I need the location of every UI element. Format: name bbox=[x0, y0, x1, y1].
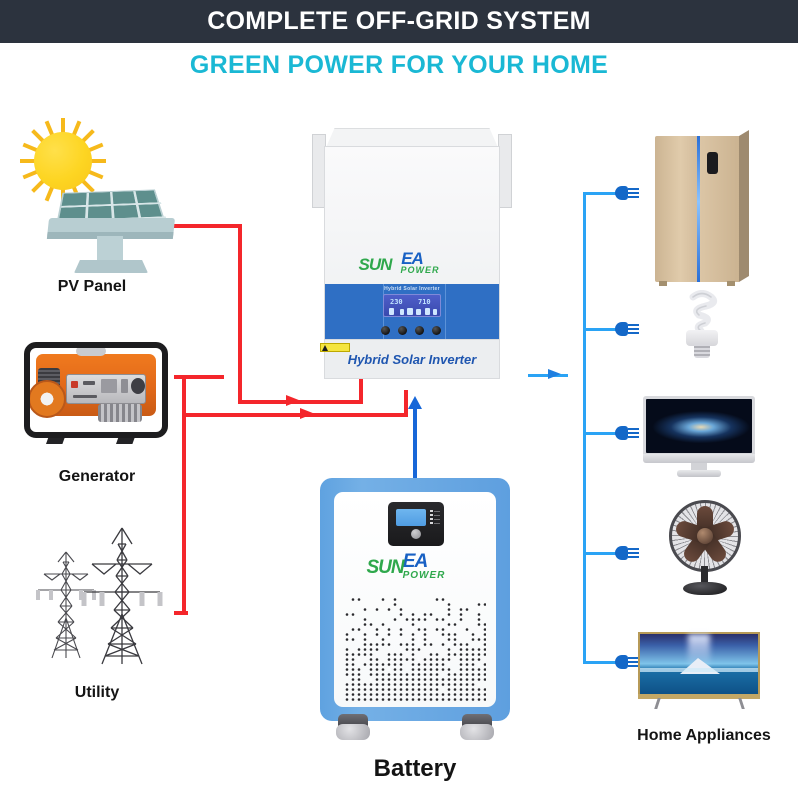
wire-branch-tv bbox=[583, 661, 618, 664]
page-title: COMPLETE OFF-GRID SYSTEM bbox=[0, 0, 798, 43]
arrow-ac-input bbox=[300, 407, 316, 423]
battery-lcd-screen bbox=[396, 509, 426, 526]
wire-battery-to-inverter bbox=[413, 400, 417, 482]
television-icon bbox=[638, 632, 760, 714]
lcd-left-value: 230 bbox=[390, 298, 403, 306]
refrigerator-icon bbox=[655, 130, 749, 286]
battery-display-panel bbox=[388, 502, 444, 546]
header-bar: COMPLETE OFF-GRID SYSTEM bbox=[0, 0, 798, 43]
plug-icon-tv bbox=[615, 652, 639, 672]
utility-label: Utility bbox=[22, 684, 172, 702]
generator-label: Generator bbox=[22, 468, 172, 486]
wire-branch-bulb bbox=[583, 328, 618, 331]
battery-brand-logo: EASUN POWER bbox=[334, 552, 496, 581]
lcd-right-value: 710 bbox=[418, 298, 431, 306]
transmission-tower-icon bbox=[22, 518, 178, 678]
wire-branch-fan bbox=[583, 552, 618, 555]
battery-label: Battery bbox=[320, 755, 510, 783]
wire-pv-vertical bbox=[238, 224, 242, 404]
warning-sticker bbox=[320, 343, 350, 352]
battery-unit: EASUN POWER bbox=[320, 478, 510, 748]
computer-monitor-icon bbox=[643, 396, 755, 478]
inverter-panel-caption: Hybrid Solar Inverter bbox=[325, 286, 499, 292]
electric-fan-icon bbox=[665, 500, 745, 596]
generator-icon bbox=[20, 338, 172, 446]
battery-caster-left bbox=[336, 714, 370, 742]
plug-icon-bulb bbox=[615, 319, 639, 339]
arrow-output bbox=[548, 368, 564, 384]
home-appliances-label: Home Appliances bbox=[620, 727, 788, 745]
battery-caster-right bbox=[460, 714, 494, 742]
plug-icon-monitor bbox=[615, 423, 639, 443]
wire-pv-horizontal bbox=[174, 224, 242, 228]
pv-panel-label: PV Panel bbox=[22, 278, 162, 296]
page-subtitle: GREEN POWER FOR YOUR HOME bbox=[0, 44, 798, 86]
wire-source-bus-to-inverter bbox=[182, 413, 408, 417]
hybrid-solar-inverter-unit: EASUN POWER Hybrid Solar Inverter 230 71… bbox=[312, 128, 512, 390]
inverter-button-row[interactable] bbox=[381, 324, 443, 336]
battery-vent-grid bbox=[344, 592, 486, 702]
light-bulb-icon bbox=[672, 290, 732, 358]
arrow-battery-link bbox=[407, 396, 423, 412]
inverter-model-name: Hybrid Solar Inverter bbox=[312, 352, 512, 367]
solar-panel-icon bbox=[12, 112, 172, 272]
wire-branch-refrigerator bbox=[583, 192, 618, 195]
plug-icon-fan bbox=[615, 543, 639, 563]
diagram-canvas: COMPLETE OFF-GRID SYSTEM GREEN POWER FOR… bbox=[0, 0, 798, 798]
battery-status-leds bbox=[430, 509, 441, 526]
plug-icon-refrigerator bbox=[615, 183, 639, 203]
inverter-control-band: Hybrid Solar Inverter 230 710 bbox=[325, 284, 499, 339]
inverter-brand-logo: EASUN POWER bbox=[324, 250, 500, 275]
wire-output-bus-vertical bbox=[583, 192, 586, 664]
wire-source-bus-vertical bbox=[182, 375, 186, 615]
inverter-lcd-display: 230 710 bbox=[383, 294, 441, 317]
battery-power-button[interactable] bbox=[411, 529, 421, 539]
wire-branch-monitor bbox=[583, 432, 618, 435]
